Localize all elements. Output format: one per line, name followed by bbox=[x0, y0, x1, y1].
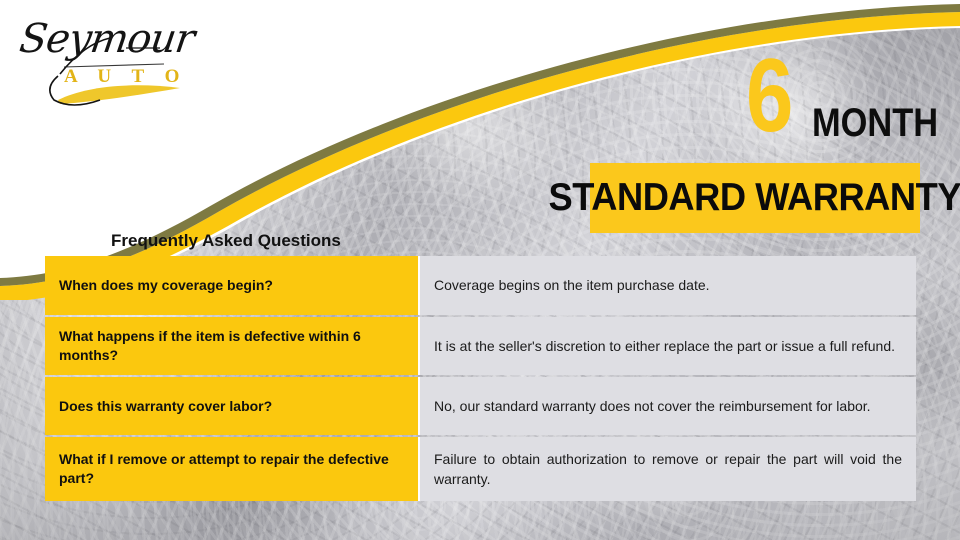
faq-answer-cell: No, our standard warranty does not cover… bbox=[420, 377, 916, 435]
faq-answer-text: No, our standard warranty does not cover… bbox=[434, 396, 902, 416]
warranty-term-number: 6 bbox=[746, 44, 792, 148]
faq-question-text: When does my coverage begin? bbox=[59, 276, 273, 295]
faq-answer-text: Failure to obtain authorization to remov… bbox=[434, 449, 902, 490]
table-row: What if I remove or attempt to repair th… bbox=[45, 437, 918, 501]
faq-answer-cell: It is at the seller's discretion to eith… bbox=[420, 317, 916, 375]
faq-question-cell: When does my coverage begin? bbox=[45, 256, 420, 315]
faq-question-cell: Does this warranty cover labor? bbox=[45, 377, 420, 435]
table-row: Does this warranty cover labor? No, our … bbox=[45, 377, 918, 435]
faq-question-text: What happens if the item is defective wi… bbox=[59, 327, 404, 365]
faq-answer-cell: Failure to obtain authorization to remov… bbox=[420, 437, 916, 501]
faq-answer-text: It is at the seller's discretion to eith… bbox=[434, 336, 902, 356]
faq-answer-cell: Coverage begins on the item purchase dat… bbox=[420, 256, 916, 315]
table-row: What happens if the item is defective wi… bbox=[45, 317, 918, 375]
table-row: When does my coverage begin? Coverage be… bbox=[45, 256, 918, 315]
faq-section-title: Frequently Asked Questions bbox=[111, 231, 341, 251]
faq-answer-text: Coverage begins on the item purchase dat… bbox=[434, 275, 902, 295]
logo-swoosh-icon bbox=[14, 14, 194, 106]
brand-logo: Seymour A U T O bbox=[14, 14, 194, 106]
faq-question-cell: What if I remove or attempt to repair th… bbox=[45, 437, 420, 501]
standard-warranty-banner: STANDARD WARRANTY bbox=[590, 163, 920, 233]
standard-warranty-banner-text: STANDARD WARRANTY bbox=[549, 176, 960, 220]
warranty-slide: Seymour A U T O 6 MONTH STANDARD WARRANT… bbox=[0, 0, 960, 540]
faq-question-text: What if I remove or attempt to repair th… bbox=[59, 450, 404, 488]
faq-question-cell: What happens if the item is defective wi… bbox=[45, 317, 420, 375]
faq-table: When does my coverage begin? Coverage be… bbox=[45, 256, 918, 501]
faq-question-text: Does this warranty cover labor? bbox=[59, 397, 272, 416]
warranty-term-unit: MONTH bbox=[812, 103, 938, 143]
